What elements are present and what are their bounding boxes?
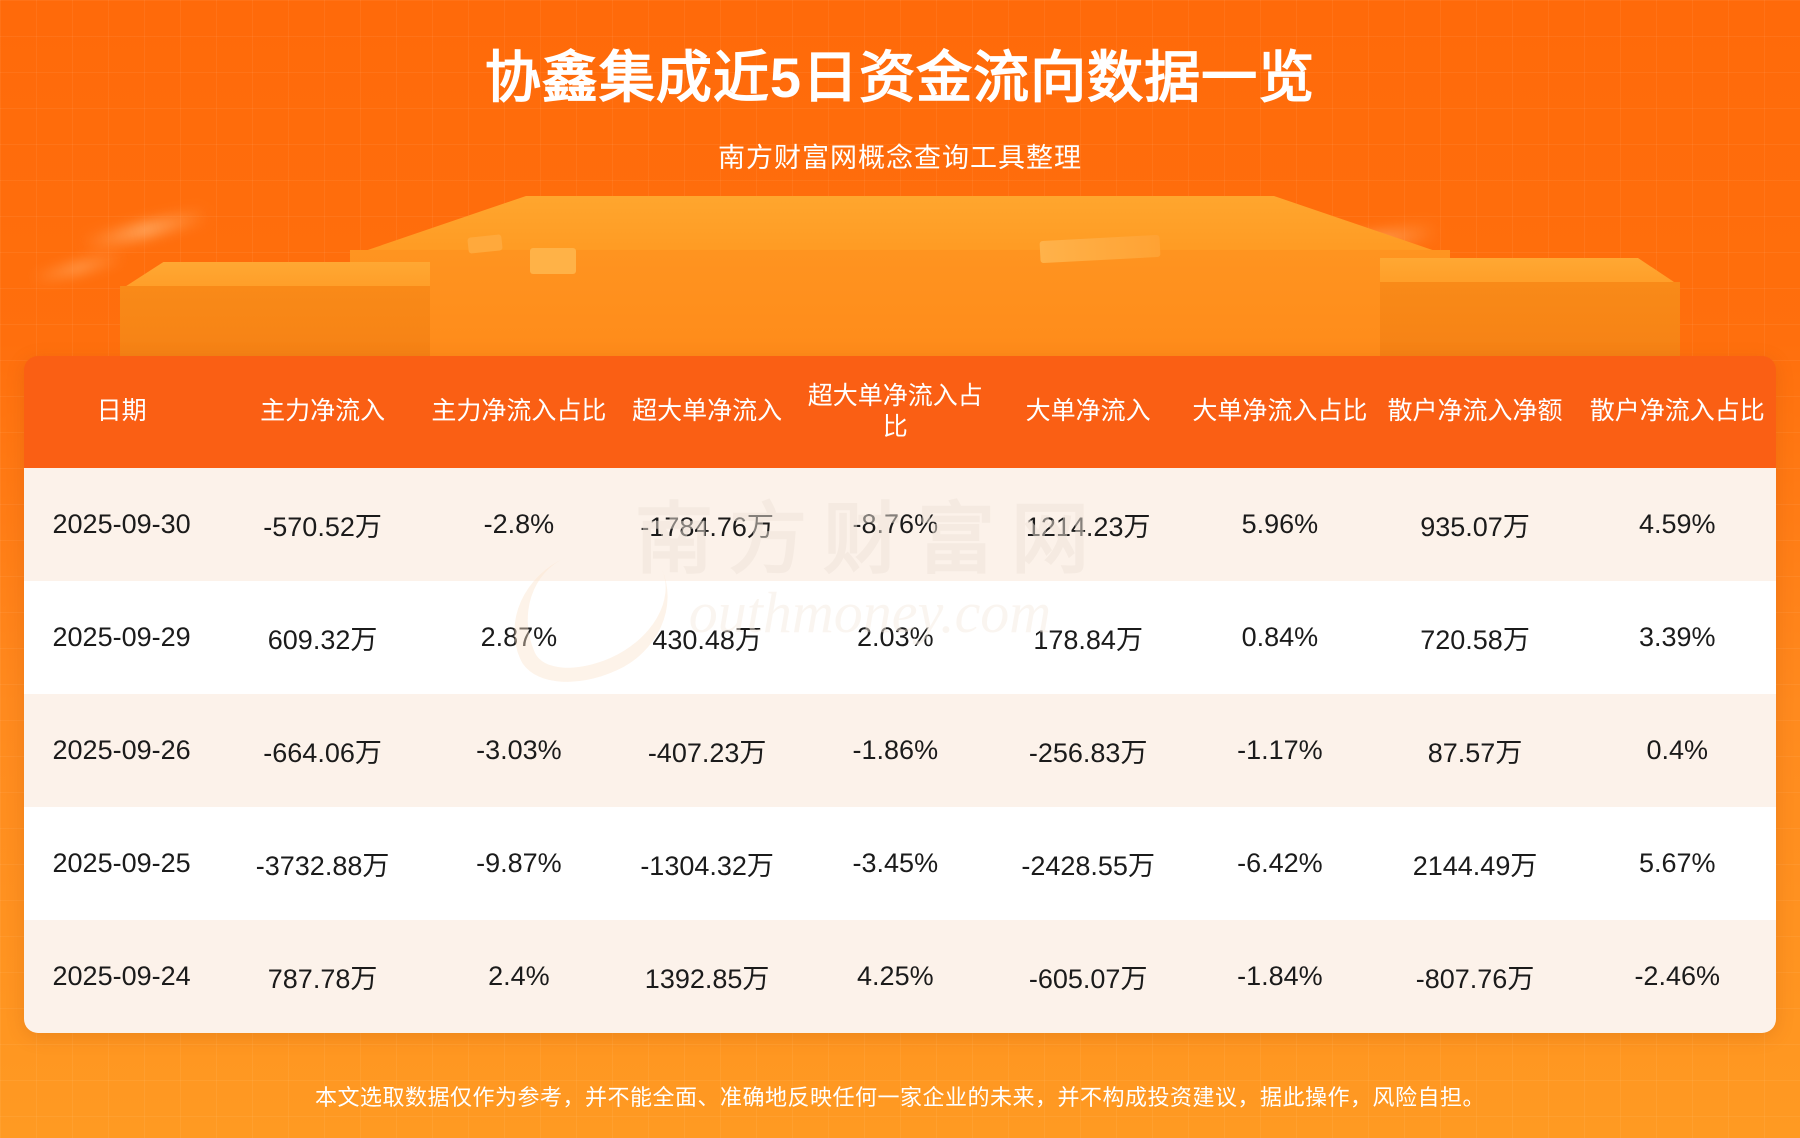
column-header-date: 日期 xyxy=(24,356,219,468)
podium-chip-decoration xyxy=(1040,235,1161,263)
podium-front-face xyxy=(350,250,1450,370)
cell-lg-net: -2428.55万 xyxy=(988,807,1188,920)
cell-date: 2025-09-24 xyxy=(24,920,219,1033)
cell-retail-pct: 0.4% xyxy=(1578,694,1776,807)
cell-xl-net: 1392.85万 xyxy=(612,920,803,1033)
cell-lg-pct: 0.84% xyxy=(1188,581,1372,694)
column-header-lg-net: 大单净流入 xyxy=(988,356,1188,468)
cell-date: 2025-09-29 xyxy=(24,581,219,694)
cell-main-pct: -9.87% xyxy=(426,807,612,920)
cell-retail-net: 935.07万 xyxy=(1372,468,1579,581)
cell-xl-net: 430.48万 xyxy=(612,581,803,694)
cell-main-pct: -2.8% xyxy=(426,468,612,581)
column-header-xl-net: 超大单净流入 xyxy=(612,356,803,468)
table-header: 日期 主力净流入 主力净流入占比 超大单净流入 超大单净流入占比 大单净流入 大… xyxy=(24,356,1776,468)
cell-retail-net: 720.58万 xyxy=(1372,581,1579,694)
table-body: 2025-09-30 -570.52万 -2.8% -1784.76万 -8.7… xyxy=(24,468,1776,1033)
podium-chip-decoration xyxy=(530,248,576,274)
cell-xl-pct: 2.03% xyxy=(802,581,988,694)
cell-lg-pct: -6.42% xyxy=(1188,807,1372,920)
fund-flow-table: 日期 主力净流入 主力净流入占比 超大单净流入 超大单净流入占比 大单净流入 大… xyxy=(24,356,1776,1033)
podium-chip-decoration xyxy=(467,234,502,253)
cell-date: 2025-09-30 xyxy=(24,468,219,581)
cell-retail-pct: -2.46% xyxy=(1578,920,1776,1033)
page-header: 协鑫集成近5日资金流向数据一览 南方财富网概念查询工具整理 xyxy=(0,0,1800,175)
column-header-main-net: 主力净流入 xyxy=(219,356,426,468)
cell-lg-net: 178.84万 xyxy=(988,581,1188,694)
table-header-row: 日期 主力净流入 主力净流入占比 超大单净流入 超大单净流入占比 大单净流入 大… xyxy=(24,356,1776,468)
page-title: 协鑫集成近5日资金流向数据一览 xyxy=(0,0,1800,110)
cell-lg-net: 1214.23万 xyxy=(988,468,1188,581)
column-header-xl-pct: 超大单净流入占比 xyxy=(802,356,988,468)
light-streak-decoration xyxy=(1345,259,1455,290)
cell-lg-pct: -1.84% xyxy=(1188,920,1372,1033)
cell-retail-net: 2144.49万 xyxy=(1372,807,1579,920)
cell-retail-net: 87.57万 xyxy=(1372,694,1579,807)
cell-main-pct: -3.03% xyxy=(426,694,612,807)
cell-date: 2025-09-26 xyxy=(24,694,219,807)
cell-main-net: -3732.88万 xyxy=(219,807,426,920)
cell-date: 2025-09-25 xyxy=(24,807,219,920)
data-table-card: 日期 主力净流入 主力净流入占比 超大单净流入 超大单净流入占比 大单净流入 大… xyxy=(24,356,1776,1033)
column-header-lg-pct: 大单净流入占比 xyxy=(1188,356,1372,468)
cell-main-pct: 2.4% xyxy=(426,920,612,1033)
cell-xl-pct: -1.86% xyxy=(802,694,988,807)
light-streak-decoration xyxy=(470,208,554,238)
cell-xl-net: -1304.32万 xyxy=(612,807,803,920)
podium-right-top-face xyxy=(1380,258,1680,286)
cell-main-net: -570.52万 xyxy=(219,468,426,581)
table-row: 2025-09-24 787.78万 2.4% 1392.85万 4.25% -… xyxy=(24,920,1776,1033)
cell-main-net: 787.78万 xyxy=(219,920,426,1033)
cell-retail-pct: 5.67% xyxy=(1578,807,1776,920)
table-row: 2025-09-30 -570.52万 -2.8% -1784.76万 -8.7… xyxy=(24,468,1776,581)
table-row: 2025-09-25 -3732.88万 -9.87% -1304.32万 -3… xyxy=(24,807,1776,920)
cell-main-pct: 2.87% xyxy=(426,581,612,694)
table-row: 2025-09-29 609.32万 2.87% 430.48万 2.03% 1… xyxy=(24,581,1776,694)
table-row: 2025-09-26 -664.06万 -3.03% -407.23万 -1.8… xyxy=(24,694,1776,807)
column-header-retail-pct: 散户净流入占比 xyxy=(1578,356,1776,468)
infographic-page: 协鑫集成近5日资金流向数据一览 南方财富网概念查询工具整理 日期 主力净流入 主… xyxy=(0,0,1800,1138)
cell-retail-net: -807.76万 xyxy=(1372,920,1579,1033)
cell-retail-pct: 3.39% xyxy=(1578,581,1776,694)
cell-xl-net: -1784.76万 xyxy=(612,468,803,581)
cell-lg-pct: 5.96% xyxy=(1188,468,1372,581)
cell-xl-pct: -3.45% xyxy=(802,807,988,920)
cell-lg-net: -605.07万 xyxy=(988,920,1188,1033)
column-header-retail-net: 散户净流入净额 xyxy=(1372,356,1579,468)
cell-xl-net: -407.23万 xyxy=(612,694,803,807)
cell-lg-net: -256.83万 xyxy=(988,694,1188,807)
cell-retail-pct: 4.59% xyxy=(1578,468,1776,581)
cell-lg-pct: -1.17% xyxy=(1188,694,1372,807)
light-streak-decoration xyxy=(80,207,210,254)
disclaimer-footer: 本文选取数据仅作为参考，并不能全面、准确地反映任何一家企业的未来，并不构成投资建… xyxy=(0,1080,1800,1112)
page-subtitle: 南方财富网概念查询工具整理 xyxy=(0,110,1800,175)
column-header-main-pct: 主力净流入占比 xyxy=(426,356,612,468)
light-streak-decoration xyxy=(1290,221,1441,265)
podium-top-face xyxy=(350,196,1450,256)
light-streak-decoration xyxy=(30,251,126,286)
cell-main-net: -664.06万 xyxy=(219,694,426,807)
cell-main-net: 609.32万 xyxy=(219,581,426,694)
cell-xl-pct: -8.76% xyxy=(802,468,988,581)
cell-xl-pct: 4.25% xyxy=(802,920,988,1033)
podium-left-top-face xyxy=(120,262,430,290)
